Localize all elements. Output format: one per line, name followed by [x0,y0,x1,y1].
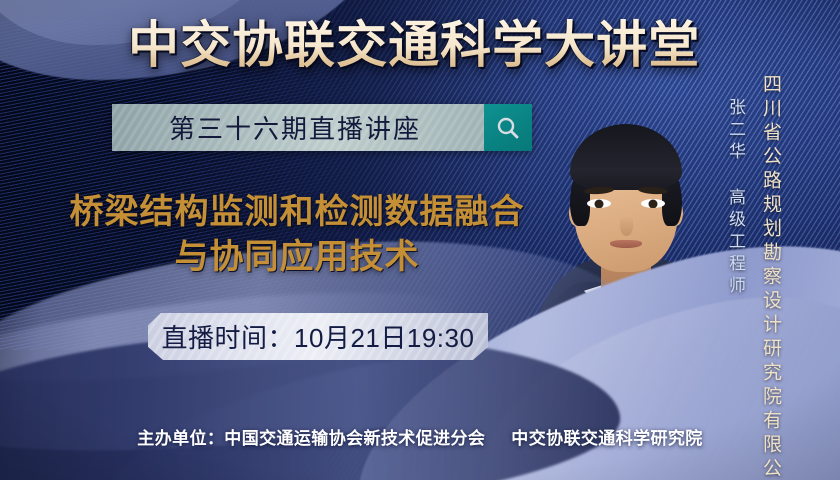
footer-organizers: 主办单位：中国交通运输协会新技术促进分会中交协联交通科学研究院 [0,424,840,449]
lecture-topic-line-2: 与协同应用技术 [52,235,542,280]
broadcast-time-label: 直播时间：10月21日19:30 [162,318,475,355]
footer-organizer-secondary: 中交协联交通科学研究院 [511,429,702,448]
lecture-topic: 桥梁结构监测和检测数据融合 与协同应用技术 [52,190,542,280]
footer-organizer-primary: 主办单位：中国交通运输协会新技术促进分会 [137,429,485,448]
search-icon-box[interactable] [484,104,532,151]
search-icon [495,115,521,141]
subtitle-label: 第三十六期直播讲座 [169,109,421,146]
speaker-organization: 四川省公路规划勘察设计研究院有限公司 [757,74,784,480]
speaker-name-and-title: 张二华 高级工程师 [723,98,748,298]
subtitle-banner: 第三十六期直播讲座 [112,104,532,151]
subtitle-banner-text-area: 第三十六期直播讲座 [112,104,484,151]
poster-canvas: 中交协联交通科学大讲堂 第三十六期直播讲座 桥梁结构监测和检测数据融合 与协同应… [0,0,840,480]
lecture-topic-line-1: 桥梁结构监测和检测数据融合 [52,190,542,235]
page-title: 中交协联交通科学大讲堂 [128,17,700,73]
broadcast-time-banner: 直播时间：10月21日19:30 [148,313,488,360]
